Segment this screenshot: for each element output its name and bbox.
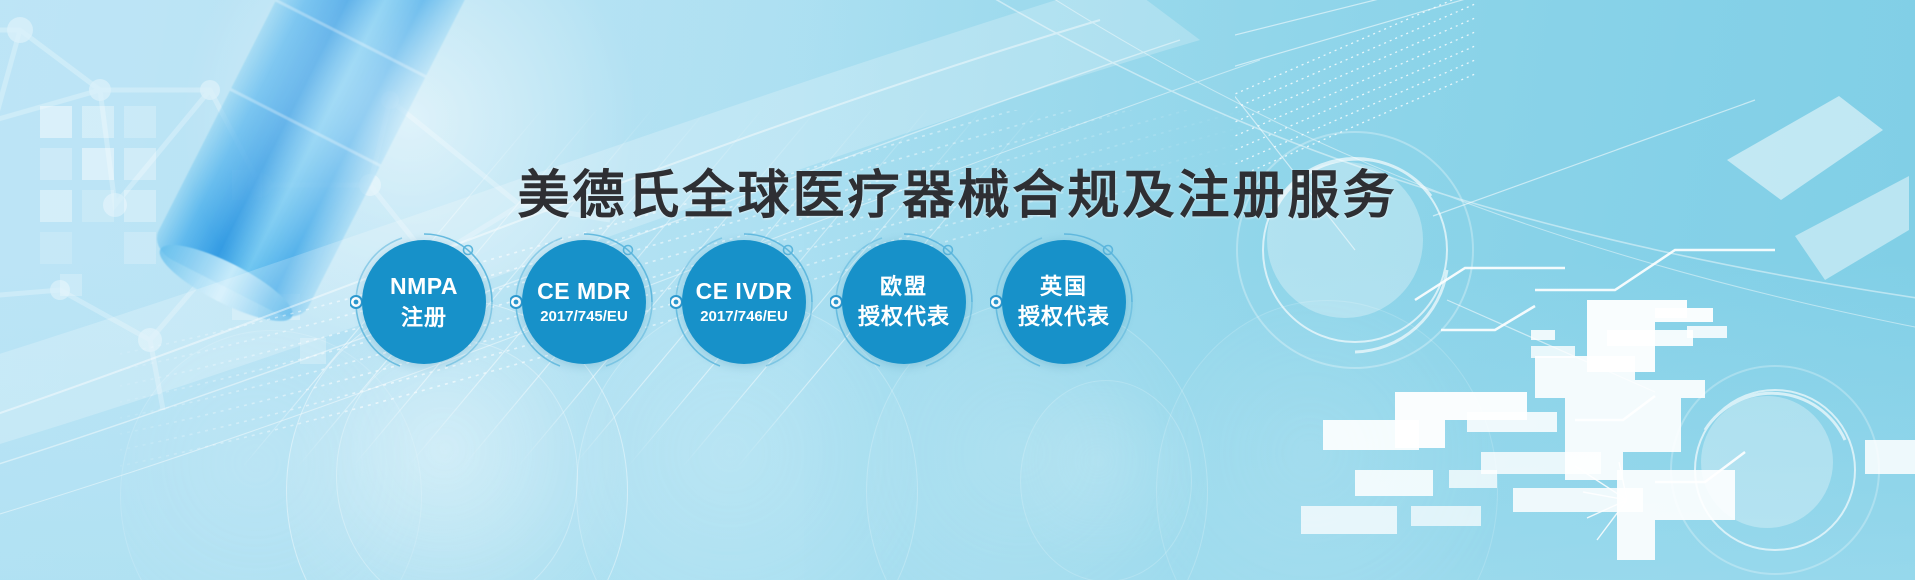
- badge-secondary-label: 2017/745/EU: [540, 308, 628, 326]
- service-badge-circle[interactable]: CE IVDR 2017/746/EU: [682, 240, 806, 364]
- square-grid-icon: [60, 274, 82, 296]
- badge-primary-label: CE MDR: [537, 278, 631, 305]
- service-badge-row: NMPA 注册 CE MDR 2017/745/EU: [362, 240, 1126, 364]
- badge-primary-label: NMPA: [390, 273, 458, 300]
- square-grid-icon: [40, 106, 72, 138]
- lens-circle-decoration: [336, 340, 578, 580]
- badge-primary-label: CE IVDR: [696, 278, 793, 305]
- square-grid-icon: [232, 294, 258, 320]
- square-grid-icon: [124, 106, 156, 138]
- service-badge-nmpa[interactable]: NMPA 注册: [362, 240, 486, 364]
- badge-secondary-label: 授权代表: [858, 304, 950, 330]
- service-badge-eu-rep[interactable]: 欧盟 授权代表: [842, 240, 966, 364]
- square-grid-icon: [82, 106, 114, 138]
- square-grid-icon: [274, 294, 300, 320]
- badge-secondary-label: 授权代表: [1018, 304, 1110, 330]
- page-title: 美德氏全球医疗器械合规及注册服务: [0, 153, 1915, 228]
- badge-secondary-label: 注册: [401, 305, 447, 331]
- service-badge-circle[interactable]: 欧盟 授权代表: [842, 240, 966, 364]
- hero-banner: 美德氏全球医疗器械合规及注册服务 NMPA 注册: [0, 0, 1915, 580]
- lens-circle-decoration: [1020, 380, 1192, 580]
- badge-primary-label: 欧盟: [880, 274, 928, 300]
- circuit-board-graphic: [1235, 0, 1915, 580]
- service-badge-ce-ivdr[interactable]: CE IVDR 2017/746/EU: [682, 240, 806, 364]
- badge-secondary-label: 2017/746/EU: [700, 308, 788, 326]
- square-grid-icon: [300, 338, 326, 364]
- square-grid-icon: [124, 232, 156, 264]
- service-badge-circle[interactable]: NMPA 注册: [362, 240, 486, 364]
- lens-circle-decoration: [1156, 300, 1498, 580]
- service-badge-circle[interactable]: 英国 授权代表: [1002, 240, 1126, 364]
- service-badge-uk-rep[interactable]: 英国 授权代表: [1002, 240, 1126, 364]
- badge-primary-label: 英国: [1040, 274, 1088, 300]
- service-badge-circle[interactable]: CE MDR 2017/745/EU: [522, 240, 646, 364]
- service-badge-ce-mdr[interactable]: CE MDR 2017/745/EU: [522, 240, 646, 364]
- square-grid-icon: [40, 232, 72, 264]
